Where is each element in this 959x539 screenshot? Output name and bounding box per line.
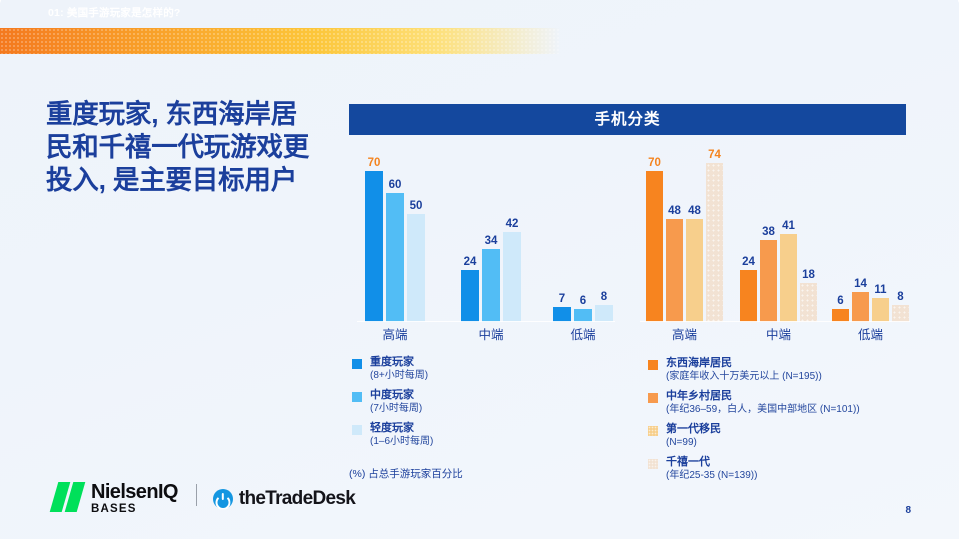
legend-item: 中度玩家(7小时每周) (352, 389, 582, 415)
bar-value-label: 70 (646, 157, 663, 169)
bar-rect (740, 270, 757, 322)
legend-series-detail: (年纪36–59，白人，美国中部地区 (N=101)) (666, 403, 860, 416)
bar-group: 70484874高端 (646, 150, 723, 322)
bar: 18 (800, 150, 817, 322)
bar: 38 (760, 150, 777, 322)
legend-label: 轻度玩家(1–6小时每周) (370, 422, 433, 448)
bar-group-bars: 24384118 (740, 150, 817, 322)
bar-rect (407, 214, 425, 322)
bar: 41 (780, 150, 797, 322)
category-label: 中端 (461, 324, 521, 343)
bar-rect (595, 305, 613, 322)
bar-value-label: 8 (892, 291, 909, 303)
bar-rect (706, 163, 723, 322)
bar-value-label: 42 (503, 218, 521, 230)
bar-value-label: 14 (852, 278, 869, 290)
slide: 01: 美国手游玩家是怎样的? 重度玩家, 东西海岸居民和千禧一代玩游戏更投入,… (0, 0, 959, 539)
section-banner (0, 28, 560, 54)
chart-gamer-intensity: 706050高端243442中端768低端 (357, 150, 615, 322)
legend-item: 东西海岸居民(家庭年收入十万美元以上 (N=195)) (648, 357, 938, 383)
legend-label: 中年乡村居民(年纪36–59，白人，美国中部地区 (N=101)) (666, 390, 860, 416)
banner-dot-texture (0, 28, 560, 54)
power-icon (213, 489, 233, 509)
legend-item: 中年乡村居民(年纪36–59，白人，美国中部地区 (N=101)) (648, 390, 938, 416)
bar-value-label: 11 (872, 284, 889, 296)
page-number: 8 (905, 505, 911, 516)
category-label: 低端 (832, 324, 909, 343)
page-title: 重度玩家, 东西海岸居民和千禧一代玩游戏更投入, 是主要目标用户 (46, 98, 316, 197)
bar-group-bars: 243442 (461, 150, 521, 322)
legend-swatch (648, 393, 658, 403)
bar: 42 (503, 150, 521, 322)
bar: 70 (646, 150, 663, 322)
logo-divider (196, 484, 197, 506)
legend-item: 重度玩家(8+小时每周) (352, 356, 582, 382)
legend-gamer-intensity: 重度玩家(8+小时每周)中度玩家(7小时每周)轻度玩家(1–6小时每周) (352, 356, 582, 455)
legend-item: 轻度玩家(1–6小时每周) (352, 422, 582, 448)
bar-value-label: 60 (386, 179, 404, 191)
bar-group: 614118低端 (832, 150, 909, 322)
bar: 8 (595, 150, 613, 322)
bar-value-label: 50 (407, 200, 425, 212)
bar-value-label: 34 (482, 235, 500, 247)
legend-swatch (648, 459, 658, 469)
bar: 48 (686, 150, 703, 322)
bar: 14 (852, 150, 869, 322)
bar-group: 706050高端 (365, 150, 425, 322)
axis-baseline (357, 321, 615, 322)
chart-title-text: 手机分类 (349, 104, 906, 135)
legend-swatch (648, 426, 658, 436)
bar-rect (646, 171, 663, 322)
legend-series-detail: (8+小时每周) (370, 369, 428, 382)
bar: 6 (832, 150, 849, 322)
nielseniq-wordmark: NielsenIQ (91, 482, 178, 503)
legend-series-name: 重度玩家 (370, 356, 428, 369)
bar-rect (852, 292, 869, 322)
bar: 50 (407, 150, 425, 322)
bar: 60 (386, 150, 404, 322)
bar: 8 (892, 150, 909, 322)
legend-series-detail: (N=99) (666, 436, 721, 449)
bar-value-label: 6 (832, 295, 849, 307)
bar-value-label: 24 (740, 256, 757, 268)
bar-rect (780, 234, 797, 322)
legend-series-name: 千禧一代 (666, 456, 757, 469)
legend-swatch (648, 360, 658, 370)
legend-series-name: 东西海岸居民 (666, 357, 822, 370)
bar-rect (482, 249, 500, 322)
legend-label: 中度玩家(7小时每周) (370, 389, 422, 415)
legend-label: 千禧一代(年纪25-35 (N=139)) (666, 456, 757, 482)
bar-rect (760, 240, 777, 322)
bar-rect (365, 171, 383, 322)
category-label: 高端 (646, 324, 723, 343)
bar-group: 24384118中端 (740, 150, 817, 322)
bar: 74 (706, 150, 723, 322)
bar-rect (553, 307, 571, 322)
bar-group-bars: 614118 (832, 150, 909, 322)
legend-series-detail: (7小时每周) (370, 402, 422, 415)
category-label: 中端 (740, 324, 817, 343)
bar-rect (686, 219, 703, 322)
chart-audience-segments: 70484874高端24384118中端614118低端 (640, 150, 910, 322)
bar-rect (461, 270, 479, 322)
legend-label: 重度玩家(8+小时每周) (370, 356, 428, 382)
legend-label: 东西海岸居民(家庭年收入十万美元以上 (N=195)) (666, 357, 822, 383)
bar-rect (892, 305, 909, 322)
nielseniq-bases-label: BASES (91, 503, 178, 516)
legend-series-name: 第一代移民 (666, 423, 721, 436)
tradedesk-wordmark: theTradeDesk (239, 488, 355, 510)
category-label: 高端 (365, 324, 425, 343)
tradedesk-wordmark-text: theTradeDesk (239, 488, 355, 509)
bar-value-label: 7 (553, 293, 571, 305)
legend-label: 第一代移民(N=99) (666, 423, 721, 449)
bar: 70 (365, 150, 383, 322)
bar-group-bars: 70484874 (646, 150, 723, 322)
legend-swatch (352, 392, 362, 402)
bar-value-label: 74 (706, 149, 723, 161)
bar: 48 (666, 150, 683, 322)
bar-value-label: 24 (461, 256, 479, 268)
legend-swatch (352, 359, 362, 369)
nielseniq-logo: NielsenIQ BASES (52, 482, 178, 516)
bar-rect (503, 232, 521, 322)
legend-series-name: 中度玩家 (370, 389, 422, 402)
bar-value-label: 48 (686, 205, 703, 217)
bar-group-bars: 706050 (365, 150, 425, 322)
bar-rect (386, 193, 404, 322)
bar-value-label: 48 (666, 205, 683, 217)
bar-group: 243442中端 (461, 150, 521, 322)
bar: 24 (461, 150, 479, 322)
axis-baseline (640, 321, 910, 322)
chart-title-banner: 手机分类 (349, 104, 906, 135)
legend-audience-segments: 东西海岸居民(家庭年收入十万美元以上 (N=195))中年乡村居民(年纪36–5… (648, 357, 938, 489)
bar-value-label: 8 (595, 291, 613, 303)
bar-value-label: 6 (574, 295, 592, 307)
legend-swatch (352, 425, 362, 435)
legend-item: 千禧一代(年纪25-35 (N=139)) (648, 456, 938, 482)
bar: 24 (740, 150, 757, 322)
legend-series-detail: (家庭年收入十万美元以上 (N=195)) (666, 370, 822, 383)
legend-series-name: 轻度玩家 (370, 422, 433, 435)
bar-rect (666, 219, 683, 322)
bar: 6 (574, 150, 592, 322)
bar-rect (800, 283, 817, 322)
legend-series-detail: (1–6小时每周) (370, 435, 433, 448)
nielseniq-mark-icon (52, 482, 86, 512)
legend-series-name: 中年乡村居民 (666, 390, 860, 403)
bar-value-label: 38 (760, 226, 777, 238)
category-label: 低端 (553, 324, 613, 343)
bar-group: 768低端 (553, 150, 613, 322)
footer-logos: NielsenIQ BASES theTradeDesk (52, 482, 355, 516)
chart-footnote: (%) 占总手游玩家百分比 (349, 466, 463, 481)
tradedesk-logo: theTradeDesk (213, 488, 355, 510)
bar-group-bars: 768 (553, 150, 613, 322)
bar-value-label: 41 (780, 220, 797, 232)
legend-series-detail: (年纪25-35 (N=139)) (666, 469, 757, 482)
bar: 7 (553, 150, 571, 322)
legend-item: 第一代移民(N=99) (648, 423, 938, 449)
section-banner-label: 01: 美国手游玩家是怎样的? (48, 0, 181, 26)
bar: 11 (872, 150, 889, 322)
bar: 34 (482, 150, 500, 322)
bar-value-label: 70 (365, 157, 383, 169)
bar-rect (872, 298, 889, 322)
bar-value-label: 18 (800, 269, 817, 281)
